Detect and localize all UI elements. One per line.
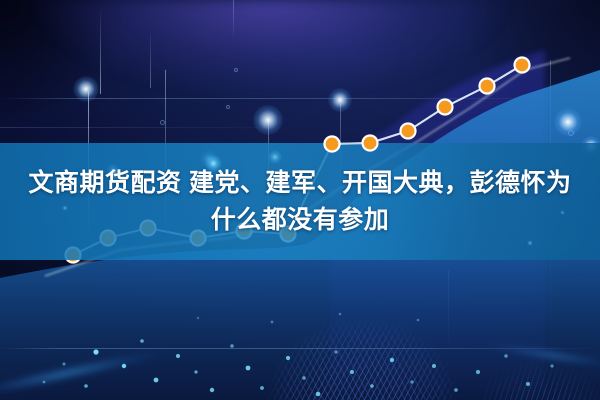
chart-marker [438, 100, 453, 115]
chart-marker [515, 58, 530, 73]
chart-marker-group-upper [325, 58, 530, 152]
banner-canvas: 文商期货配资 建党、建军、开国大典，彭德怀为 什么都没有参加 [0, 0, 600, 400]
chart-marker [401, 124, 416, 139]
title-line-1: 文商期货配资 建党、建军、开国大典，彭德怀为 [29, 168, 572, 199]
chart-marker [363, 136, 378, 151]
chart-marker [480, 79, 495, 94]
title-line-2: 什么都没有参加 [211, 205, 390, 236]
chart-line-upper-segment [332, 65, 522, 144]
banner-title: 文商期货配资 建党、建军、开国大典，彭德怀为 什么都没有参加 [0, 150, 600, 254]
